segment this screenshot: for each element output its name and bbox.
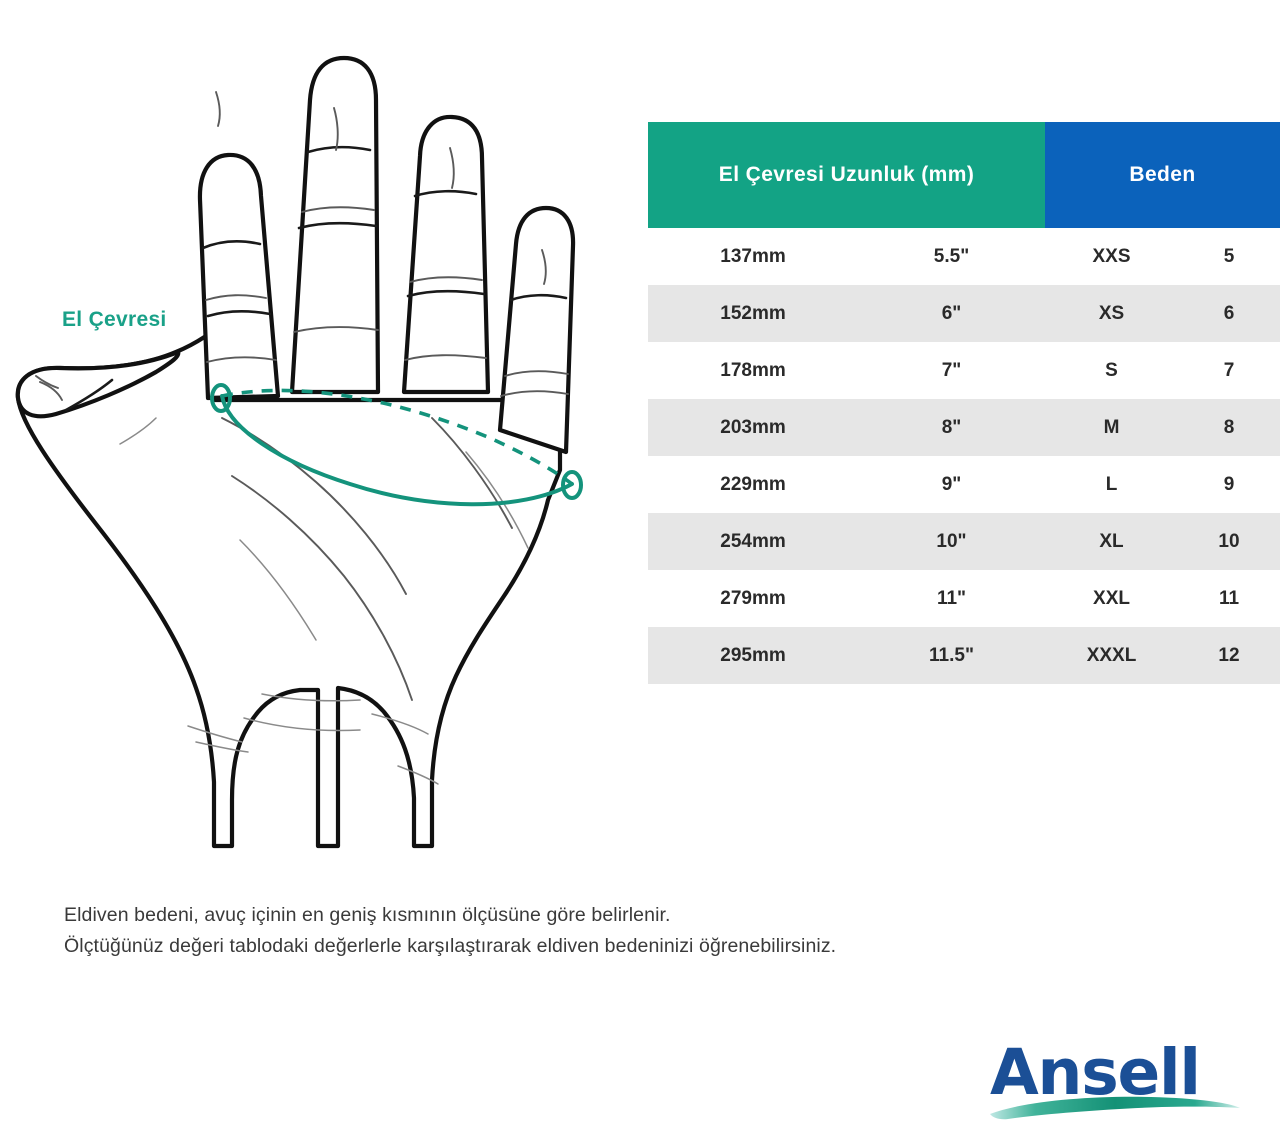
palm-outline [18,330,560,846]
cell-size: M [1045,399,1178,456]
cell-inches: 10" [858,513,1045,570]
cell-inches: 8" [858,399,1045,456]
cell-inches: 11.5" [858,627,1045,684]
cell-number: 8 [1178,399,1280,456]
ansell-swoosh-icon [986,1092,1242,1122]
ansell-logo: Ansell [990,1040,1240,1126]
cell-mm: 203mm [648,399,858,456]
cell-size: XXS [1045,228,1178,285]
cell-number: 11 [1178,570,1280,627]
cell-number: 7 [1178,342,1280,399]
ring-finger-outline [404,117,488,392]
cell-number: 5 [1178,228,1280,285]
cell-number: 6 [1178,285,1280,342]
hand-measurement-diagram: El Çevresi [0,0,620,890]
cell-mm: 295mm [648,627,858,684]
instruction-line-2: Ölçtüğünüz değeri tablodaki değerlerle k… [64,931,1214,962]
cell-inches: 9" [858,456,1045,513]
cell-number: 9 [1178,456,1280,513]
cell-inches: 7" [858,342,1045,399]
cell-mm: 254mm [648,513,858,570]
measurement-instructions: Eldiven bedeni, avuç içinin en geniş kıs… [64,900,1214,962]
table-row: 229mm 9" L 9 [648,456,1280,513]
table-row: 178mm 7" S 7 [648,342,1280,399]
cell-size: XL [1045,513,1178,570]
cell-size: XS [1045,285,1178,342]
cell-size: XXL [1045,570,1178,627]
cell-mm: 229mm [648,456,858,513]
hand-illustration [0,0,620,890]
size-chart: El Çevresi Uzunluk (mm) Beden 137mm 5.5"… [648,122,1280,684]
table-row: 254mm 10" XL 10 [648,513,1280,570]
cell-mm: 178mm [648,342,858,399]
table-row: 279mm 11" XXL 11 [648,570,1280,627]
cell-mm: 279mm [648,570,858,627]
little-finger-outline [500,208,573,452]
table-row: 152mm 6" XS 6 [648,285,1280,342]
cell-size: S [1045,342,1178,399]
cell-number: 12 [1178,627,1280,684]
cell-inches: 11" [858,570,1045,627]
header-size: Beden [1045,122,1280,228]
table-header: El Çevresi Uzunluk (mm) Beden [648,122,1280,228]
cell-mm: 152mm [648,285,858,342]
cell-inches: 6" [858,285,1045,342]
cell-inches: 5.5" [858,228,1045,285]
cell-size: L [1045,456,1178,513]
cell-number: 10 [1178,513,1280,570]
table-row: 295mm 11.5" XXXL 12 [648,627,1280,684]
table-row: 137mm 5.5" XXS 5 [648,228,1280,285]
instruction-line-1: Eldiven bedeni, avuç içinin en geniş kıs… [64,900,1214,931]
glove-size-table: El Çevresi Uzunluk (mm) Beden 137mm 5.5"… [648,122,1280,684]
cell-mm: 137mm [648,228,858,285]
table-row: 203mm 8" M 8 [648,399,1280,456]
table-body: 137mm 5.5" XXS 5 152mm 6" XS 6 178mm 7" … [648,228,1280,684]
cell-size: XXXL [1045,627,1178,684]
header-hand-circumference: El Çevresi Uzunluk (mm) [648,122,1045,228]
hand-circumference-label: El Çevresi [62,308,167,332]
